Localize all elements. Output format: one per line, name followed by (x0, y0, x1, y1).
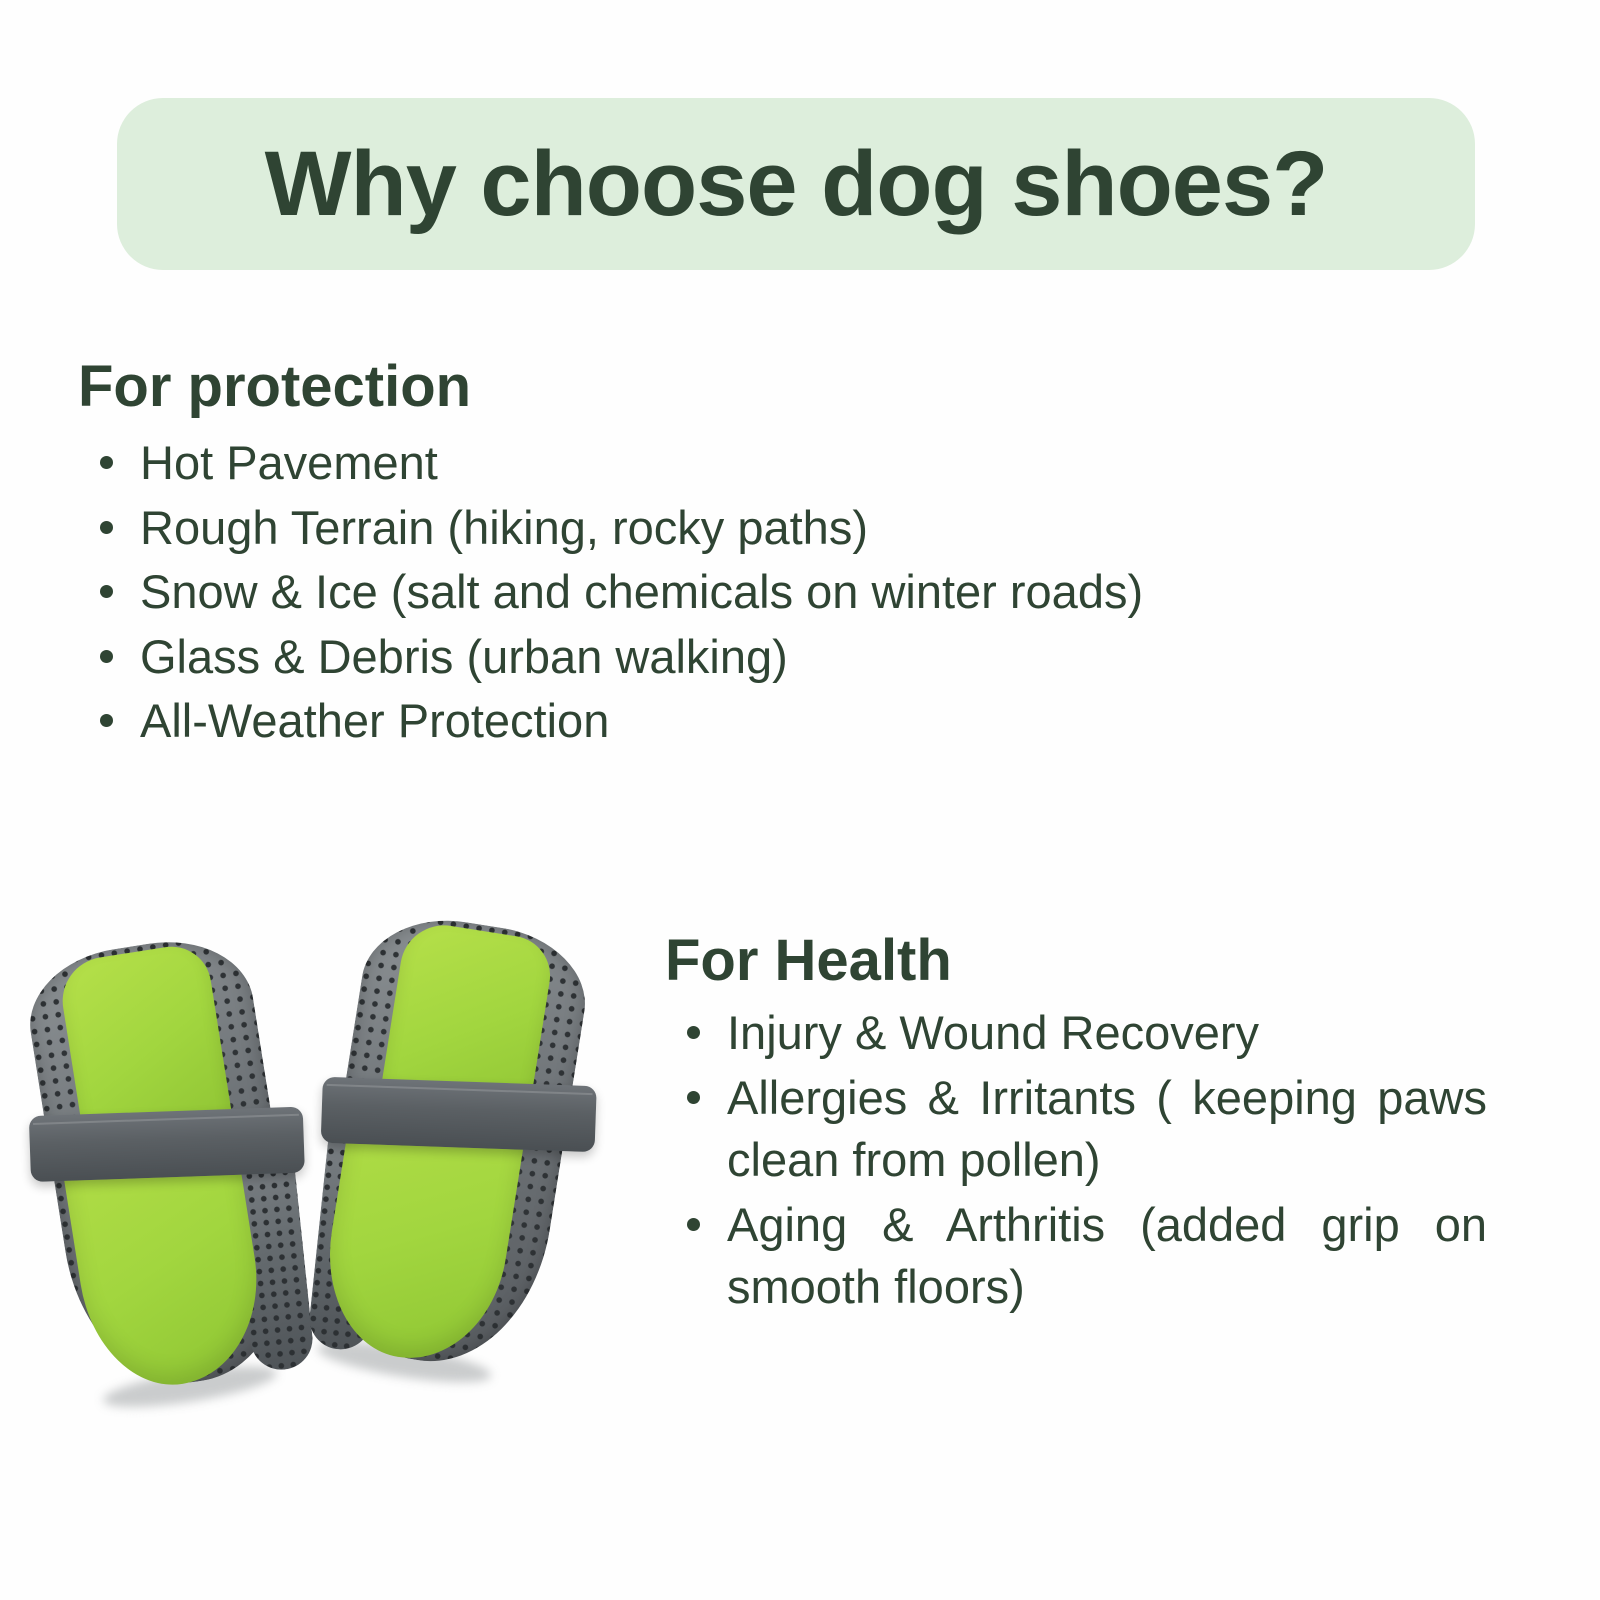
dog-shoes-photo (28, 905, 628, 1435)
list-item-label: Glass & Debris (urban walking) (140, 630, 788, 683)
bullet-dot-icon (100, 650, 113, 663)
list-item-label: Snow & Ice (salt and chemicals on winter… (140, 565, 1143, 618)
list-item-label: Rough Terrain (hiking, rocky paths) (140, 501, 868, 554)
bullet-dot-icon (100, 585, 113, 598)
list-item: Glass & Debris (urban walking) (78, 626, 1258, 689)
list-item-label: Allergies & Irritants ( keeping paws cle… (727, 1067, 1487, 1192)
list-item: All-Weather Protection (78, 690, 1258, 753)
list-item: Snow & Ice (salt and chemicals on winter… (78, 561, 1258, 624)
bullet-dot-icon (687, 1218, 700, 1231)
list-item-label: Injury & Wound Recovery (727, 1002, 1487, 1065)
health-bullet-list: Injury & Wound Recovery Allergies & Irri… (665, 1002, 1515, 1319)
section-protection: For protection Hot Pavement Rough Terrai… (78, 358, 1258, 755)
bullet-dot-icon (100, 456, 113, 469)
list-item: Rough Terrain (hiking, rocky paths) (78, 497, 1258, 560)
section-heading-health: For Health (665, 932, 1515, 990)
list-item-label: Aging & Arthritis (added grip on smooth … (727, 1194, 1487, 1319)
bullet-dot-icon (100, 521, 113, 534)
list-item: Injury & Wound Recovery (665, 1002, 1487, 1065)
list-item: Hot Pavement (78, 432, 1258, 495)
shoe-velcro-strap (29, 1107, 305, 1183)
list-item-label: Hot Pavement (140, 436, 438, 489)
list-item: Allergies & Irritants ( keeping paws cle… (665, 1067, 1487, 1192)
page-title: Why choose dog shoes? (265, 138, 1328, 230)
bullet-dot-icon (100, 714, 113, 727)
section-health: For Health Injury & Wound Recovery Aller… (665, 932, 1515, 1321)
infographic-page: Why choose dog shoes? For protection Hot… (0, 0, 1600, 1600)
bullet-dot-icon (687, 1091, 700, 1104)
bullet-dot-icon (687, 1026, 700, 1039)
dog-shoe-right (294, 906, 612, 1395)
protection-bullet-list: Hot Pavement Rough Terrain (hiking, rock… (78, 432, 1258, 753)
dog-shoe-left (12, 926, 330, 1415)
title-banner: Why choose dog shoes? (117, 98, 1475, 270)
list-item: Aging & Arthritis (added grip on smooth … (665, 1194, 1487, 1319)
list-item-label: All-Weather Protection (140, 694, 609, 747)
shoe-velcro-strap (321, 1077, 597, 1153)
section-heading-protection: For protection (78, 358, 1258, 416)
